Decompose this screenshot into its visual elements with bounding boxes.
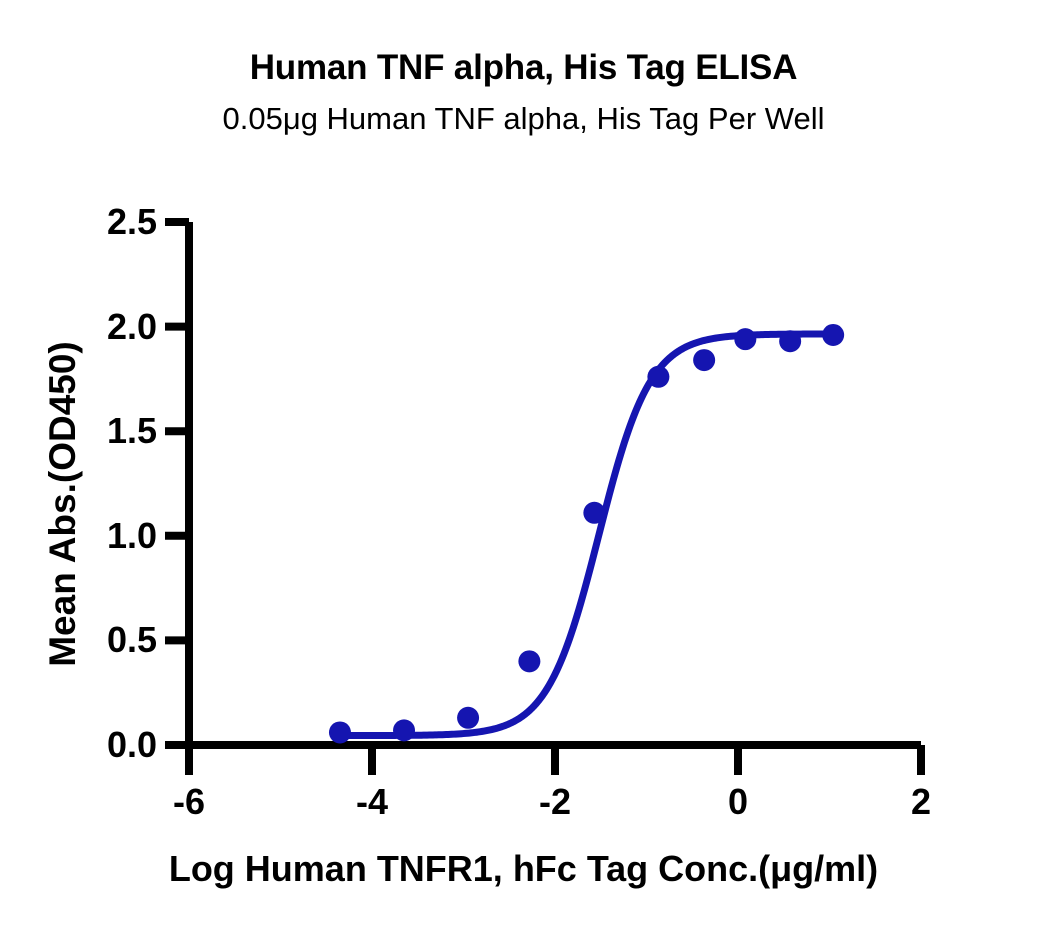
y-tick-label: 1.0	[107, 515, 157, 557]
data-point-markers	[329, 324, 844, 743]
y-tick-label: 2.0	[107, 306, 157, 348]
data-point	[779, 330, 801, 352]
data-point	[734, 328, 756, 350]
data-point	[393, 719, 415, 741]
data-point	[518, 650, 540, 672]
x-tick-label: -2	[539, 781, 571, 823]
x-axis-ticks	[189, 745, 921, 775]
x-tick-label: 2	[911, 781, 931, 823]
chart-figure: Human TNF alpha, His Tag ELISA 0.05μg Hu…	[0, 0, 1047, 947]
y-tick-label: 2.5	[107, 201, 157, 243]
x-tick-label: 0	[728, 781, 748, 823]
data-point	[822, 324, 844, 346]
plot-canvas	[0, 0, 1047, 947]
data-point	[583, 502, 605, 524]
x-tick-label: -6	[173, 781, 205, 823]
fit-curve-line	[340, 334, 833, 736]
y-tick-label: 0.0	[107, 724, 157, 766]
plot-area: 0.00.51.01.52.02.5 -6-4-202	[0, 0, 1047, 947]
x-tick-label: -4	[356, 781, 388, 823]
data-point	[693, 349, 715, 371]
y-tick-label: 0.5	[107, 619, 157, 661]
data-point	[647, 366, 669, 388]
y-tick-label: 1.5	[107, 410, 157, 452]
axis-lines	[182, 222, 921, 775]
data-point	[457, 707, 479, 729]
data-point	[329, 721, 351, 743]
